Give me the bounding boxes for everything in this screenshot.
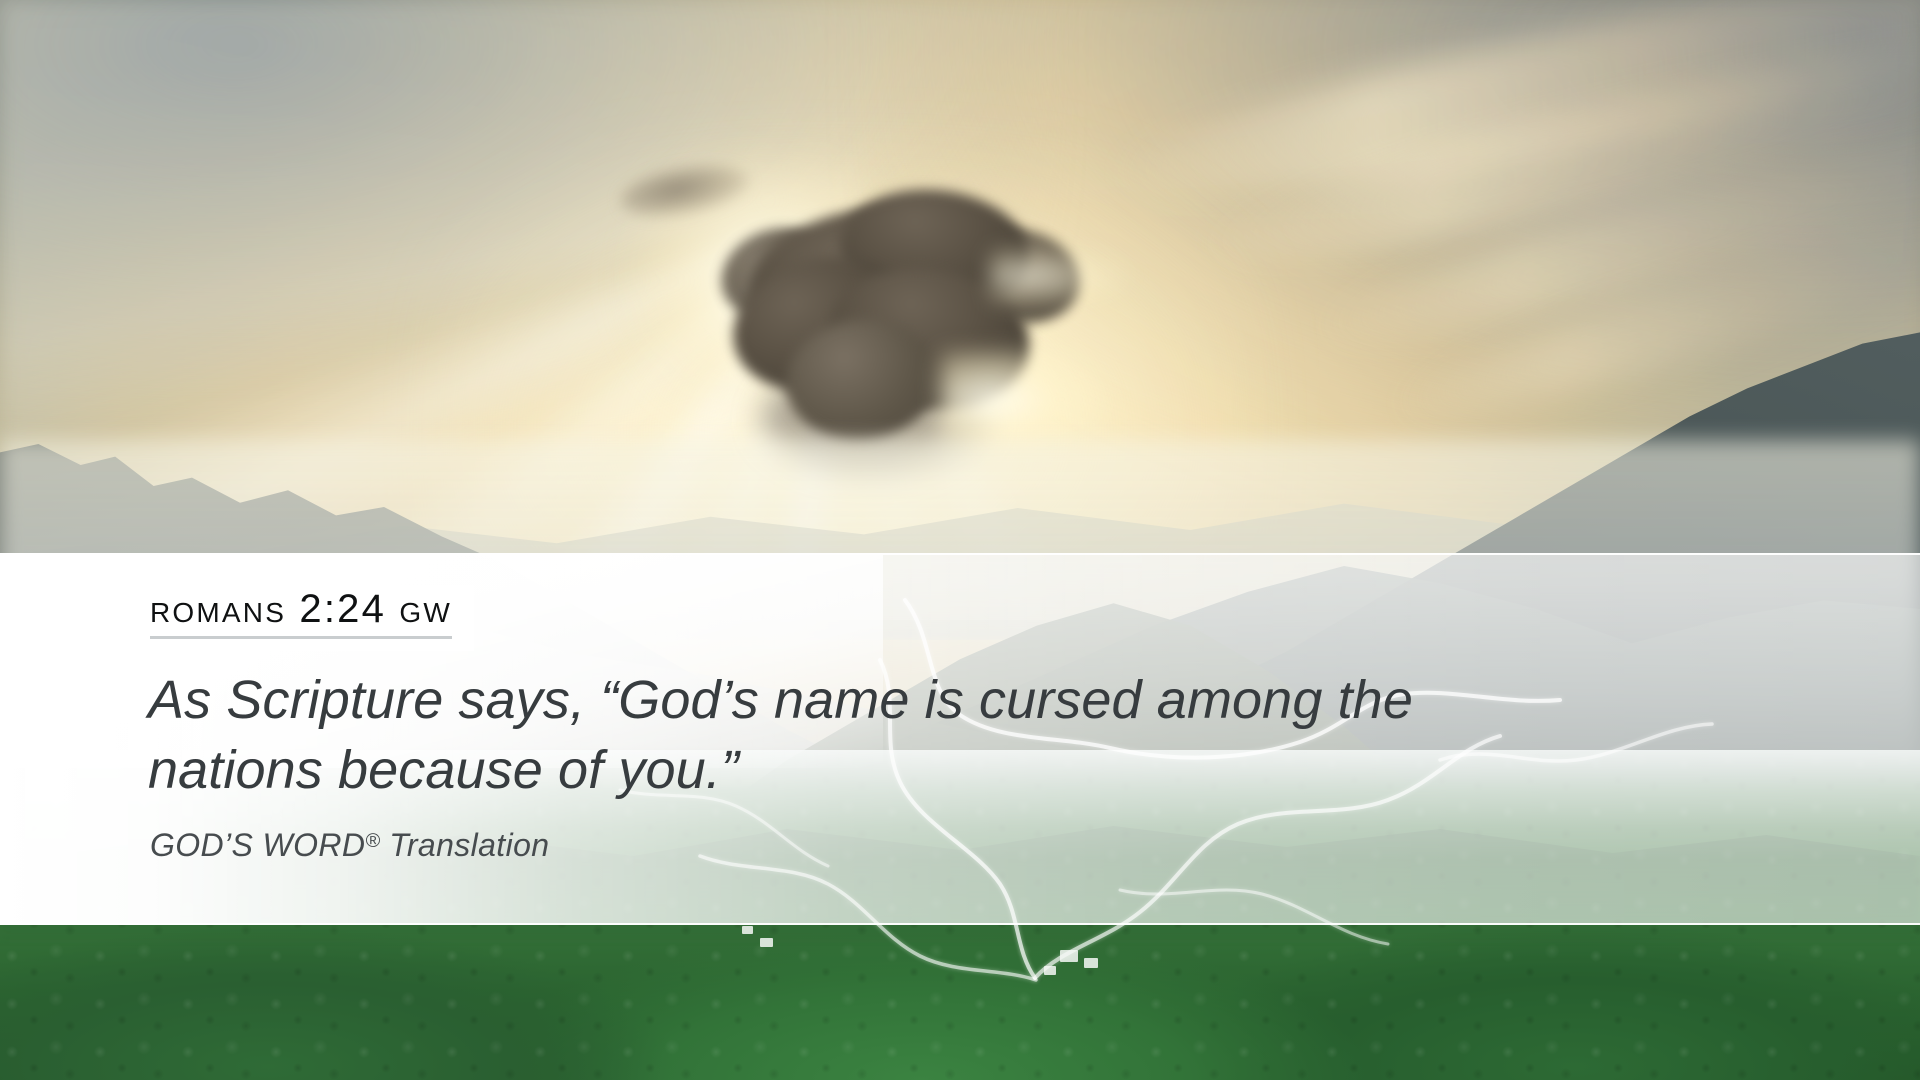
translation-suffix: Translation (380, 827, 549, 863)
verse-reference-underline (150, 636, 452, 639)
village-building (760, 938, 773, 947)
translation-name: GOD’S WORD (150, 827, 365, 863)
verse-text-container: Romans 2:24 GW As Scripture says, “God’s… (148, 555, 1860, 923)
verse-text-panel: Romans 2:24 GW As Scripture says, “God’s… (0, 553, 1920, 925)
village-building (1060, 950, 1078, 962)
verse-reference-plate: Romans 2:24 GW (128, 585, 474, 651)
village-building (1084, 958, 1098, 968)
village-building (1044, 966, 1056, 975)
verse-reference: Romans 2:24 GW (150, 589, 452, 629)
verse-body-text: As Scripture says, “God’s name is cursed… (148, 665, 1448, 805)
village-building (742, 926, 753, 934)
verse-image-canvas: Romans 2:24 GW As Scripture says, “God’s… (0, 0, 1920, 1080)
registered-trademark-icon: ® (365, 830, 380, 852)
translation-attribution: GOD’S WORD® Translation (150, 827, 549, 864)
